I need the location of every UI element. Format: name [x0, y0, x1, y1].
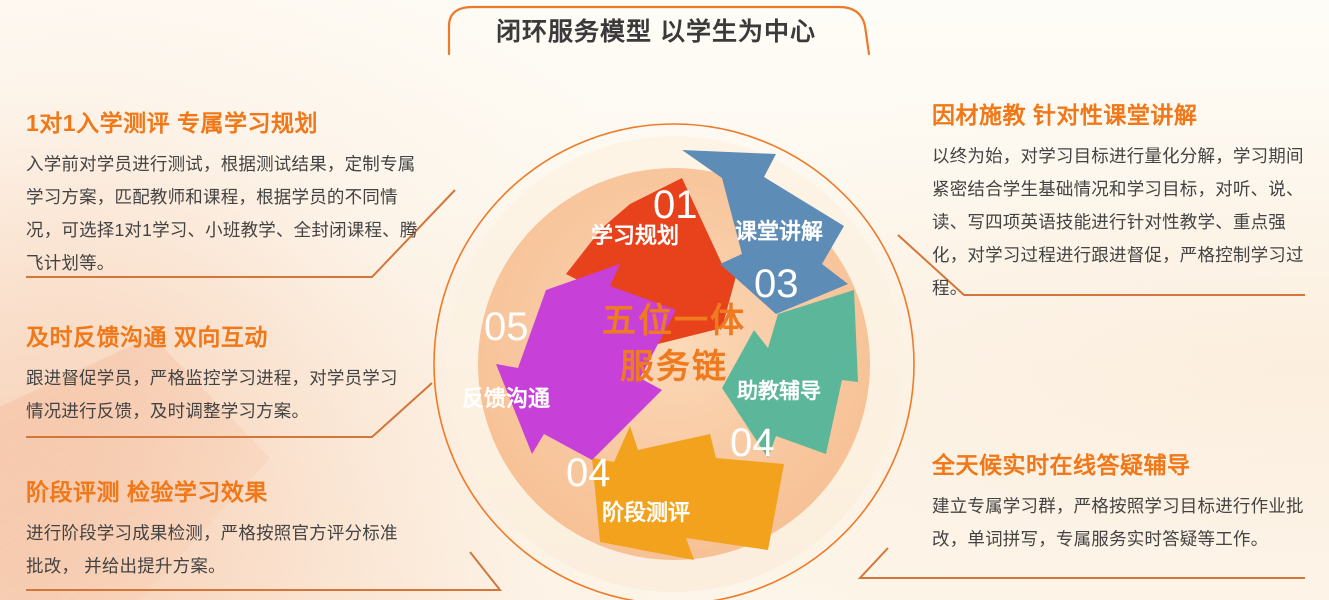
info-block-right-2: 全天候实时在线答疑辅导 建立专属学习群，严格按照学习目标进行作业批改，单词拼写，… [932, 446, 1307, 556]
service-cycle-diagram: 01 学习规划 课堂讲解 03 助教辅导 04 04 阶段测评 05 反馈沟通 [424, 114, 924, 600]
info-block-left-1: 1对1入学测评 专属学习规划 入学前对学员进行测试，根据测试结果，定制专属学习方… [26, 104, 426, 280]
info-block-left-1-body: 入学前对学员进行测试，根据测试结果，定制专属学习方案，匹配教师和课程，根据学员的… [26, 148, 426, 280]
segment-01-label: 学习规划 [591, 223, 679, 248]
info-block-left-2: 及时反馈沟通 双向互动 跟进督促学员，严格监控学习进程，对学员学习情况进行反馈，… [26, 318, 406, 428]
info-block-right-2-heading: 全天候实时在线答疑辅导 [932, 446, 1307, 480]
info-block-left-1-heading: 1对1入学测评 专属学习规划 [26, 104, 426, 138]
info-block-left-3-body: 进行阶段学习成果检测，严格按照官方评分标准批改， 并给出提升方案。 [26, 517, 406, 583]
info-block-left-2-body: 跟进督促学员，严格监控学习进程，对学员学习情况进行反馈，及时调整学习方案。 [26, 362, 406, 428]
info-block-left-3-heading: 阶段评测 检验学习效果 [26, 473, 406, 507]
center-title-line1: 五位一体 [602, 302, 746, 340]
segment-05-number: 05 [484, 305, 529, 349]
segment-02-label: 课堂讲解 [735, 219, 823, 244]
segment-05-label: 反馈沟通 [462, 386, 550, 411]
info-block-right-1: 因材施教 针对性课堂讲解 以终为始，对学习目标进行量化分解，学习期间紧密结合学生… [932, 96, 1307, 305]
segment-03-label: 助教辅导 [737, 379, 821, 403]
segment-04-label: 阶段测评 [602, 500, 690, 525]
info-block-left-3: 阶段评测 检验学习效果 进行阶段学习成果检测，严格按照官方评分标准批改， 并给出… [26, 473, 406, 583]
info-block-right-1-body: 以终为始，对学习目标进行量化分解，学习期间紧密结合学生基础情况和学习目标，对听、… [932, 140, 1307, 305]
info-block-right-2-body: 建立专属学习群，严格按照学习目标进行作业批改，单词拼写，专属服务实时答疑等工作。 [932, 490, 1307, 556]
page-title-text: 闭环服务模型 以学生为中心 [441, 4, 871, 56]
segment-01-number: 01 [653, 183, 698, 227]
segment-02-number: 03 [754, 262, 799, 306]
page-title: 闭环服务模型 以学生为中心 [441, 4, 871, 56]
info-block-right-1-heading: 因材施教 针对性课堂讲解 [932, 96, 1307, 130]
info-block-left-2-heading: 及时反馈沟通 双向互动 [26, 318, 406, 352]
segment-03-number: 04 [730, 421, 775, 465]
center-title-line2: 服务链 [620, 348, 728, 386]
